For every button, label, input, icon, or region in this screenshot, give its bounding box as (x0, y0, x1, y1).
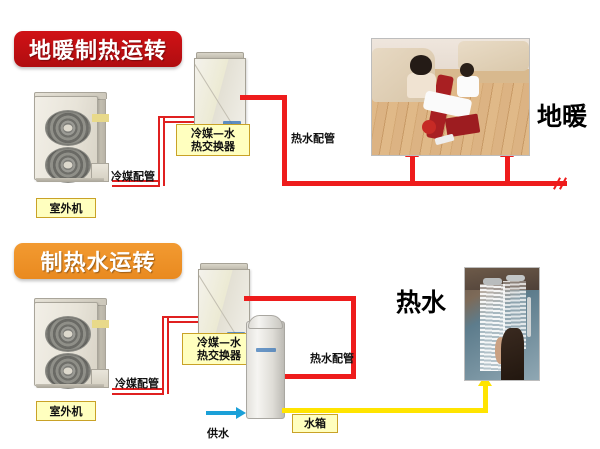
refrigerant-pipe-vertical-a (158, 116, 160, 186)
label-heat-exchanger-line2: 热交换器 (197, 349, 241, 362)
shower-hand-wand (527, 297, 531, 337)
outdoor-unit-body (34, 302, 98, 386)
hot-water-riser-right (505, 155, 510, 183)
label-heat-exchanger-floor-heating: 冷媒—水 热交换器 (176, 124, 250, 156)
refrigerant-pipe-vertical-b (163, 116, 165, 186)
refrigerant-pipe-vertical-a (162, 316, 164, 394)
label-hot-water-pipe-hot-water: 热水配管 (310, 350, 354, 366)
tap-water-pipe-riser (483, 385, 488, 410)
brand-logo-tank (256, 348, 276, 352)
hot-water-pipe-floor-loop (282, 181, 567, 186)
shower-person-hair (501, 328, 525, 380)
result-label-hot-water: 热水 (396, 283, 446, 319)
label-water-tank: 水箱 (292, 414, 338, 433)
result-label-floor-heating: 地暖 (537, 97, 587, 133)
supply-water-line (206, 411, 237, 415)
outdoor-unit-fan-upper (45, 110, 91, 146)
refrigerant-pipe-top-horizontal-a (158, 116, 196, 118)
refrigerant-pipe-low-horizontal-b (112, 185, 160, 187)
outdoor-unit-fan-upper (45, 316, 91, 352)
label-refrigerant-pipe-floor-heating: 冷媒配管 (111, 168, 155, 184)
hot-water-pipe-from-exchanger (240, 95, 287, 100)
heat-exchanger-body (194, 58, 246, 132)
section-badge-hot-water: 制热水运转 (14, 243, 182, 279)
hot-water-tank-body (246, 321, 285, 419)
tap-water-pipe-horizontal (282, 408, 488, 413)
refrigerant-pipe-top-horizontal-b (163, 121, 196, 123)
brand-logo-plate (92, 114, 109, 122)
label-heat-exchanger-line2: 热交换器 (191, 140, 235, 153)
outdoor-unit-hot-water (28, 296, 112, 392)
shower-head-right (506, 275, 525, 282)
heat-exchanger-hot-water (198, 263, 250, 343)
label-outdoor-unit-hot-water: 室外机 (36, 401, 96, 421)
photo-shower-hot-water (464, 267, 540, 381)
hot-water-tank (246, 315, 284, 419)
photo-floor-heating-room (371, 38, 530, 156)
label-heat-exchanger-line1: 冷媒—水 (197, 336, 241, 349)
room-child-body (457, 76, 479, 97)
refrigerant-pipe-vertical-b (167, 316, 169, 394)
refrigerant-pipe-low-horizontal-b (112, 393, 164, 395)
outdoor-unit-body (34, 96, 98, 180)
refrigerant-pipe-top-horizontal-b (167, 321, 200, 323)
hot-water-pipe-return-to-tank (278, 374, 356, 379)
hot-water-pipe-top-run (244, 296, 356, 301)
hot-water-pipe-vertical-loop (351, 296, 356, 379)
hot-water-tank-cap (248, 315, 283, 329)
diagram-canvas: 地暖制热运转 室外机 冷媒配管 冷媒—水 热交换器 热水配管 (0, 0, 600, 449)
label-refrigerant-pipe-hot-water: 冷媒配管 (115, 375, 159, 391)
label-supply-water: 供水 (207, 425, 229, 441)
label-hot-water-pipe-floor-heating: 热水配管 (291, 130, 335, 146)
label-heat-exchanger-hot-water: 冷媒—水 热交换器 (182, 333, 256, 365)
supply-water-arrow-icon (236, 407, 246, 419)
label-outdoor-unit-floor-heating: 室外机 (36, 198, 96, 218)
refrigerant-pipe-top-horizontal-a (162, 316, 200, 318)
brand-logo-plate (92, 320, 109, 328)
outdoor-unit-base (36, 178, 104, 182)
shower-head-left (483, 278, 502, 285)
room-adult-head (410, 55, 432, 75)
section-badge-floor-heating: 地暖制热运转 (14, 31, 182, 67)
hot-water-pipe-vertical-drop (282, 95, 287, 186)
label-heat-exchanger-line1: 冷媒—水 (191, 127, 235, 140)
hot-water-riser-left (410, 155, 415, 183)
outdoor-unit-base (36, 384, 104, 388)
outdoor-unit-floor-heating (28, 90, 112, 186)
heat-exchanger-body (198, 269, 250, 343)
heat-exchanger-floor-heating (194, 52, 246, 132)
